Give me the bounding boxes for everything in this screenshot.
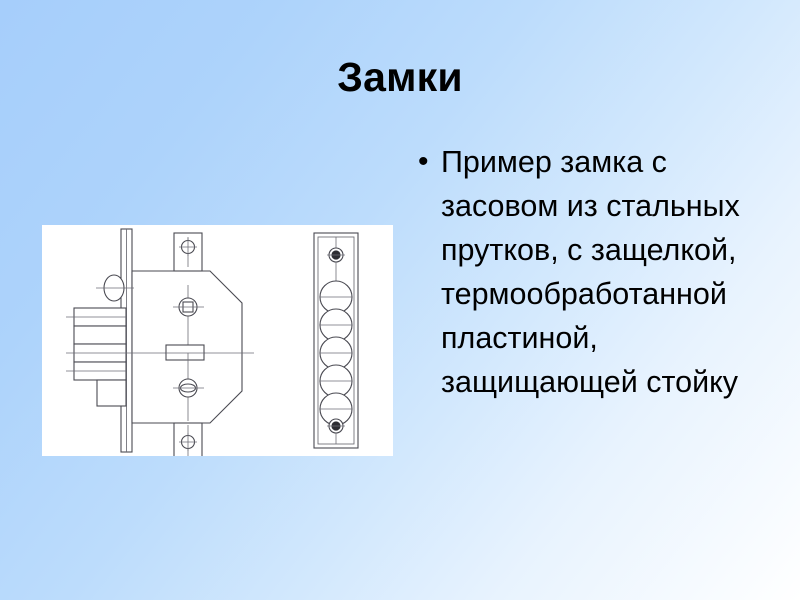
list-item: • Пример замка с засовом из стальных пру… xyxy=(418,140,790,404)
page-title: Замки xyxy=(0,53,800,101)
presentation-slide: Замки • Пример замка с засовом из стальн… xyxy=(0,0,800,600)
lock-technical-drawing xyxy=(42,225,393,456)
strike-plate xyxy=(314,233,358,448)
bullet-marker-icon: • xyxy=(418,140,441,184)
strike-holes xyxy=(320,281,352,425)
lock-drawing-figure xyxy=(42,225,393,456)
mounting-tab-bottom xyxy=(174,423,202,456)
bullet-list: • Пример замка с засовом из стальных пру… xyxy=(418,140,790,404)
lower-rod xyxy=(97,380,126,406)
bullet-text: Пример замка с засовом из стальных прутк… xyxy=(441,140,790,404)
cam-slot xyxy=(166,345,204,360)
mounting-tab-top xyxy=(174,233,202,271)
